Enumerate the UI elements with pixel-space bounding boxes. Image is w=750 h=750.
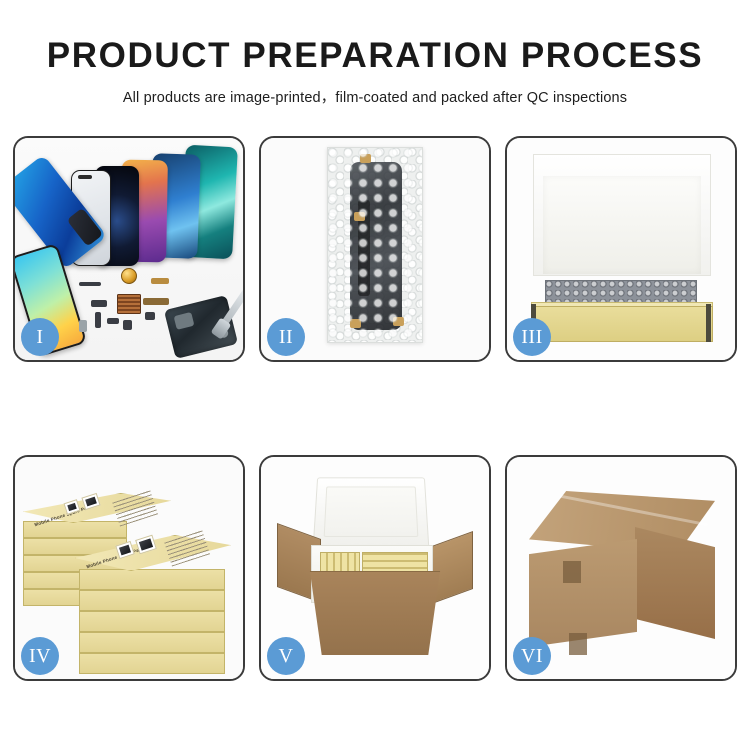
carton-tape-lower — [569, 633, 587, 655]
stacked-box — [79, 569, 225, 590]
step-badge-1: I — [21, 318, 59, 356]
carton-front-face — [529, 539, 637, 647]
stacked-box — [79, 632, 225, 653]
copper-grid-chip — [117, 294, 141, 314]
step-badge-5: V — [267, 637, 305, 675]
stacked-box — [79, 653, 225, 674]
stacked-box — [79, 611, 225, 632]
carton-body — [301, 571, 449, 655]
page-title: PRODUCT PREPARATION PROCESS — [0, 38, 750, 75]
connector-strip-part — [95, 312, 101, 328]
sim-tray-part — [79, 320, 87, 332]
step-badge-2: II — [267, 318, 305, 356]
speaker-part — [123, 320, 132, 330]
panel-step-6[interactable]: VI — [505, 455, 737, 681]
step-badge-4: IV — [21, 637, 59, 675]
product-preparation-infographic: PRODUCT PREPARATION PROCESS All products… — [0, 0, 750, 750]
flex-ribbon-part — [143, 298, 169, 305]
carton-side-face — [635, 527, 715, 639]
header: PRODUCT PREPARATION PROCESS All products… — [0, 0, 750, 107]
panel-step-3[interactable]: III — [505, 136, 737, 362]
stacked-box — [79, 590, 225, 611]
white-foam-sheet — [543, 176, 701, 274]
bubble-wrap-bag — [327, 147, 423, 343]
tape-tab-bottom-left — [350, 319, 361, 328]
foam-lid — [313, 477, 430, 547]
panel-step-2[interactable]: II — [259, 136, 491, 362]
panel-step-1[interactable]: I — [13, 136, 245, 362]
carton-tape-upper — [563, 561, 581, 583]
tape-tab-top — [360, 154, 371, 163]
button-part — [145, 312, 155, 320]
process-steps-grid: I II — [0, 136, 750, 681]
gold-connector-part — [151, 278, 169, 284]
panel-step-5[interactable]: V — [259, 455, 491, 681]
box-spec-lines — [164, 529, 210, 566]
inner-box-edge-right — [706, 304, 711, 342]
page-subtitle: All products are image-printed，film-coat… — [0, 86, 750, 107]
inner-box-front — [531, 306, 713, 342]
panel-step-4[interactable]: Mobile Phone Spare Parts Mobile Phone Sp… — [13, 455, 245, 681]
small-board-part — [91, 300, 107, 307]
camera-module-part — [107, 318, 119, 324]
vibration-coil-part — [121, 268, 137, 284]
wrapped-phone-part — [350, 162, 402, 330]
tape-tab-bottom-right — [393, 317, 404, 326]
step-badge-6: VI — [513, 637, 551, 675]
spare-parts-cluster — [73, 264, 239, 352]
tape-tab-mid — [354, 212, 365, 221]
flex-cable-part — [79, 282, 101, 286]
step-badge-3: III — [513, 318, 551, 356]
